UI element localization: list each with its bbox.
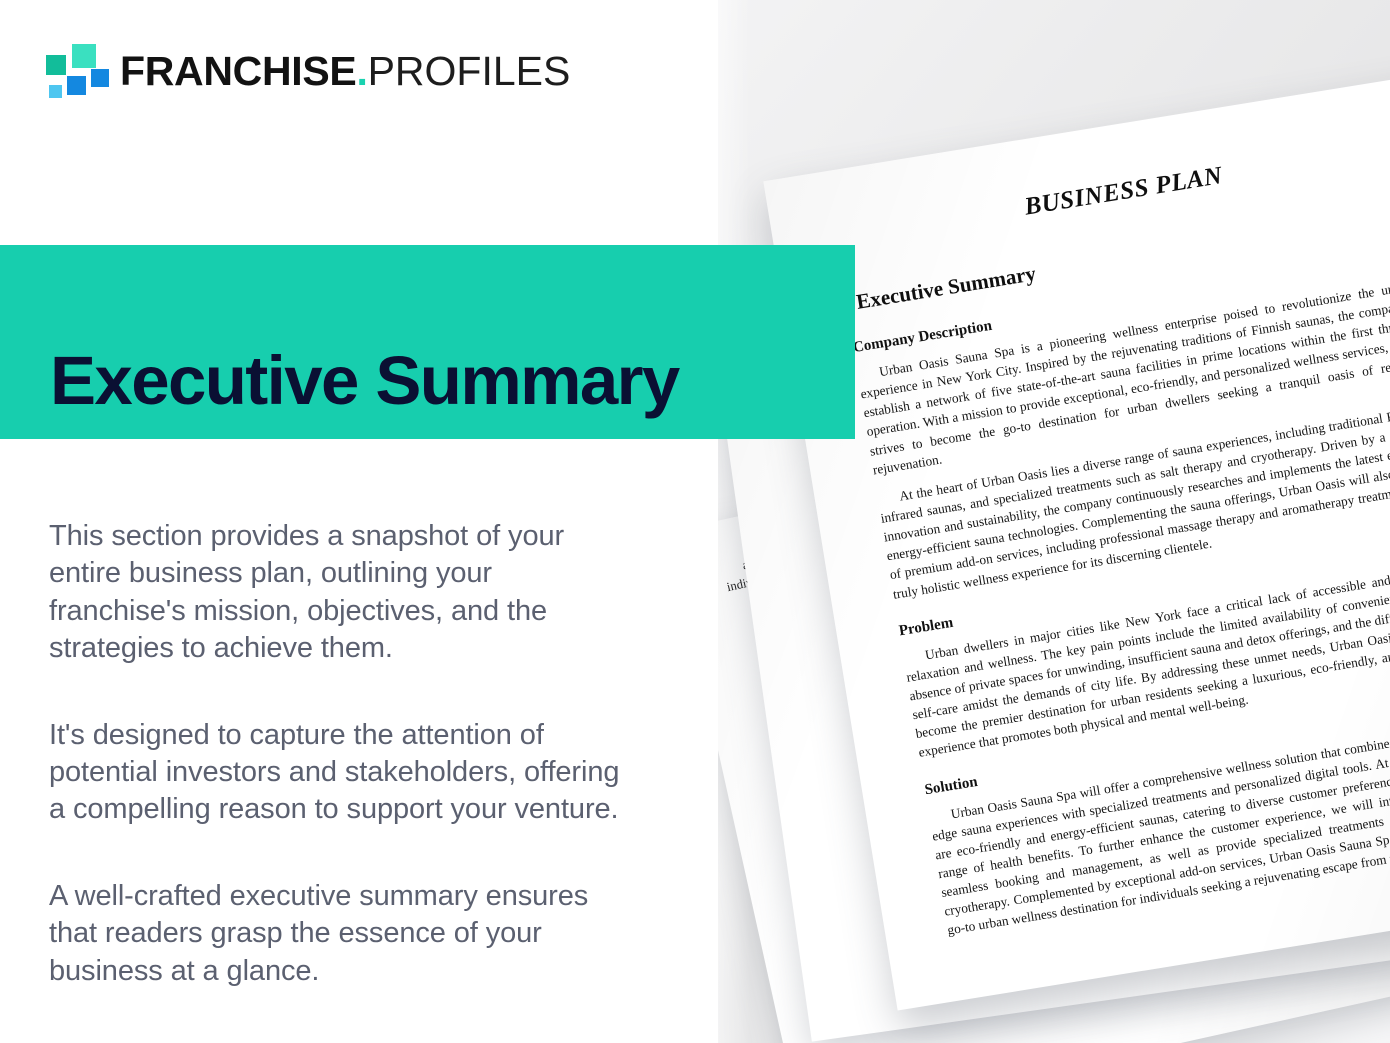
brand-logo[interactable]: FRANCHISE . PROFILES — [44, 40, 570, 102]
brand-name-primary: FRANCHISE — [120, 51, 356, 92]
document-stack: add-on services, Urban Oasis Sauna Spa w… — [718, 0, 1390, 1043]
body-copy: This section provides a snapshot of your… — [49, 518, 624, 990]
brand-name-dot: . — [356, 51, 367, 92]
logo-square-blue-right — [90, 68, 110, 88]
body-paragraph-1: This section provides a snapshot of your… — [49, 518, 624, 668]
logo-square-green — [45, 54, 67, 76]
logo-squares-icon — [44, 40, 106, 102]
logo-square-blue-lower — [66, 75, 87, 96]
brand-wordmark: FRANCHISE . PROFILES — [120, 51, 570, 92]
body-paragraph-2: It's designed to capture the attention o… — [49, 717, 624, 829]
slide-canvas: add-on services, Urban Oasis Sauna Spa w… — [0, 0, 1390, 1043]
brand-name-secondary: PROFILES — [368, 51, 571, 92]
body-paragraph-3: A well-crafted executive summary ensures… — [49, 878, 624, 990]
logo-square-sky — [48, 84, 63, 99]
logo-square-mint — [71, 43, 97, 69]
page-title: Executive Summary — [50, 346, 679, 415]
